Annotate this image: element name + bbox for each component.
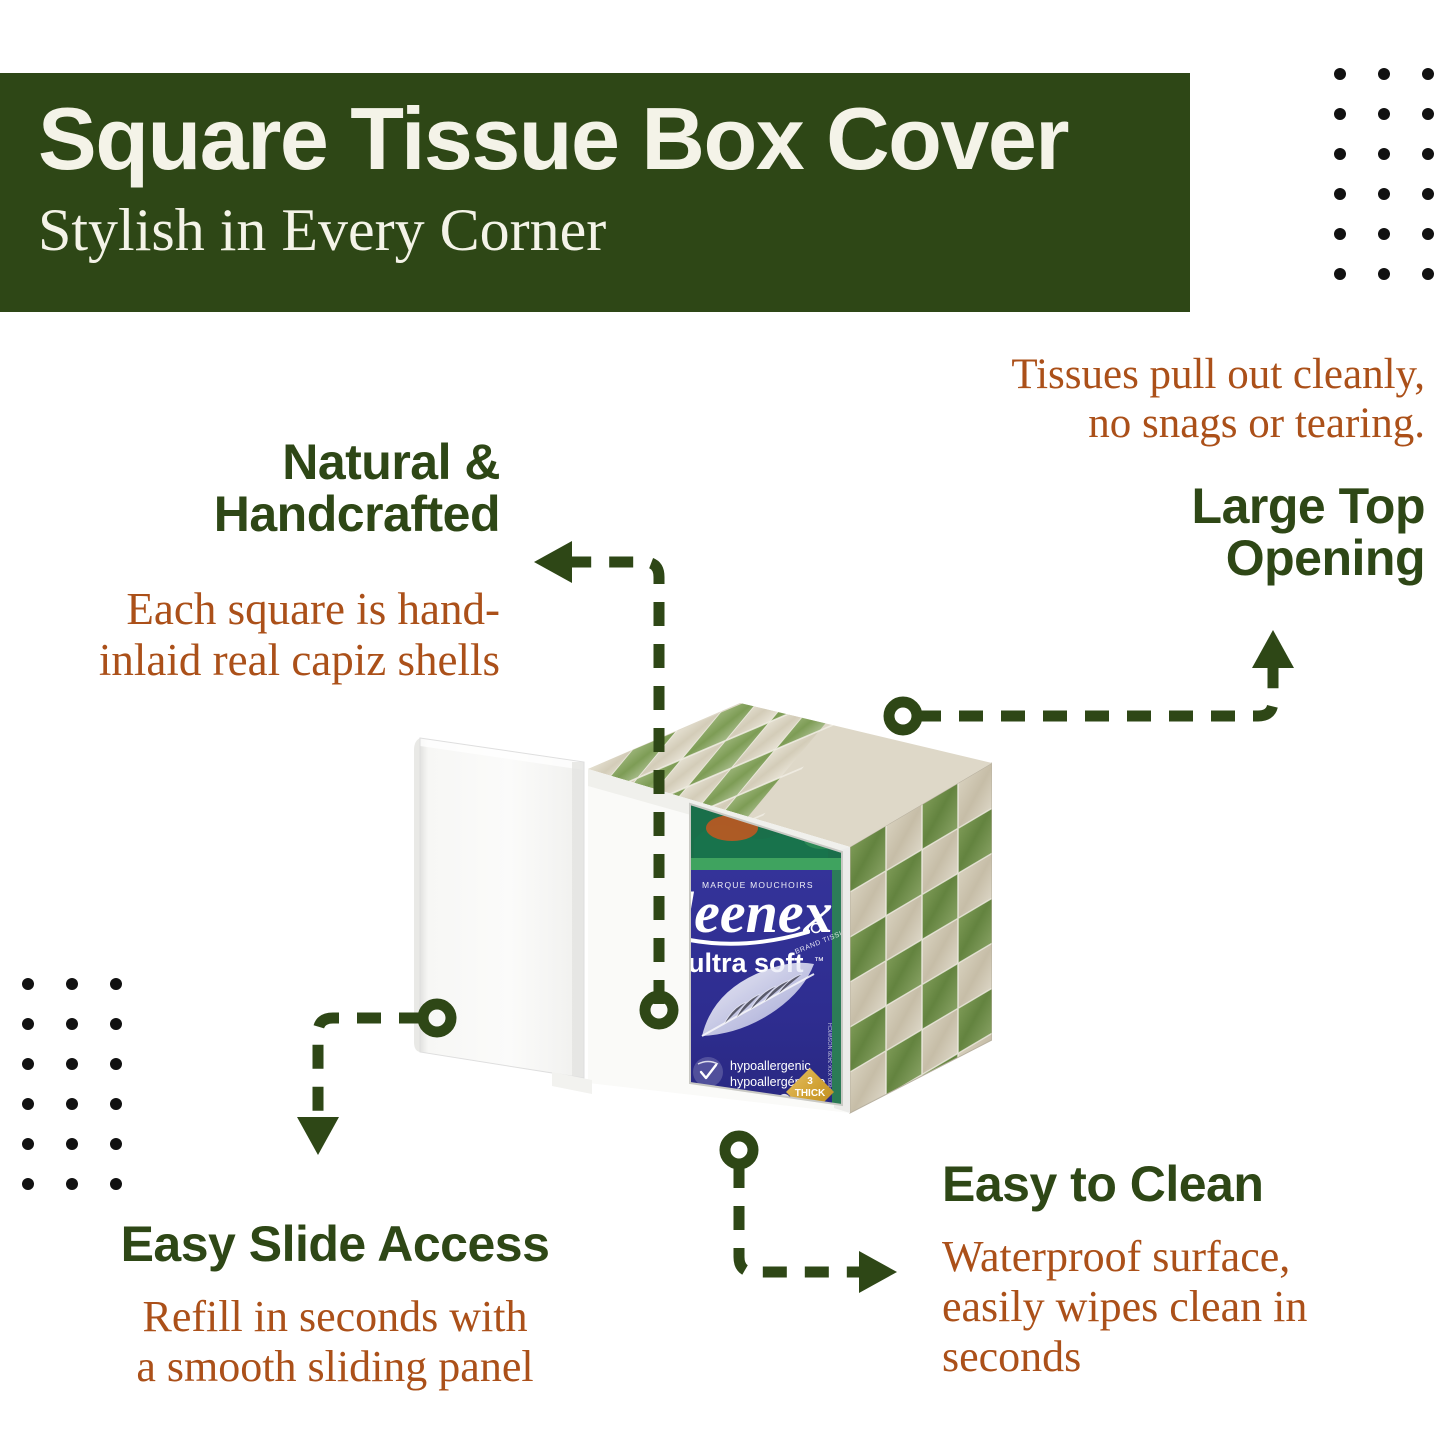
arrowhead-up-icon bbox=[1252, 630, 1294, 668]
decorative-dot bbox=[66, 1058, 78, 1070]
feature-heading-line: Handcrafted bbox=[0, 488, 500, 540]
decorative-dot bbox=[66, 1098, 78, 1110]
decorative-dot bbox=[66, 978, 78, 990]
feature-body-line: seconds bbox=[942, 1332, 1412, 1382]
feature-body-easy-slide-access: Refill in seconds with a smooth sliding … bbox=[40, 1292, 630, 1392]
decorative-dot bbox=[1422, 188, 1434, 200]
kleenex-logo: leenex BRAND TISSUE bbox=[678, 880, 851, 956]
decorative-dot bbox=[22, 1058, 34, 1070]
dot-grid-top-right bbox=[1334, 68, 1445, 308]
decorative-dot bbox=[66, 1178, 78, 1190]
feature-body-line: a smooth sliding panel bbox=[40, 1342, 630, 1392]
feature-heading-natural-handcrafted: Natural & Handcrafted bbox=[0, 436, 500, 540]
decorative-dot bbox=[1378, 108, 1390, 120]
decorative-dot bbox=[66, 1138, 78, 1150]
decorative-dot bbox=[110, 1138, 122, 1150]
arrowhead-down-icon bbox=[297, 1117, 339, 1155]
feature-heading-line: Large Top bbox=[830, 480, 1425, 532]
decorative-dot bbox=[22, 1178, 34, 1190]
decorative-dot bbox=[1334, 108, 1346, 120]
decorative-dot bbox=[110, 1098, 122, 1110]
connector-clean bbox=[725, 1136, 897, 1293]
feature-heading-line: Easy Slide Access bbox=[40, 1218, 630, 1270]
feature-body-easy-to-clean: Waterproof surface, easily wipes clean i… bbox=[942, 1232, 1412, 1382]
feature-body-large-top-opening: Tissues pull out cleanly, no snags or te… bbox=[830, 350, 1425, 448]
feature-body-line: no snags or tearing. bbox=[830, 399, 1425, 448]
tissue-box-opening: Kleenex MARQUE MOUCHOIRS leenex BRAND TI… bbox=[678, 800, 851, 1129]
decorative-dot bbox=[110, 1178, 122, 1190]
page-title: Square Tissue Box Cover bbox=[38, 95, 1068, 183]
feature-block-large-top-opening: Tissues pull out cleanly, no snags or te… bbox=[830, 350, 1425, 584]
feature-block-easy-to-clean: Easy to Clean Waterproof surface, easily… bbox=[942, 1158, 1412, 1382]
decorative-dot bbox=[22, 1098, 34, 1110]
anchor-dot-clean bbox=[725, 1136, 753, 1164]
svg-text:THICK: THICK bbox=[795, 1088, 826, 1099]
kleenex-fineprint-side: 1-800-XXX-3439 NOSWICH bbox=[828, 1023, 834, 1092]
decorative-dot bbox=[110, 1058, 122, 1070]
decorative-dot bbox=[1422, 68, 1434, 80]
decorative-dot bbox=[1378, 228, 1390, 240]
decorative-dot bbox=[1378, 148, 1390, 160]
decorative-dot bbox=[110, 978, 122, 990]
feature-body-line: Refill in seconds with bbox=[40, 1292, 630, 1342]
svg-text:™: ™ bbox=[814, 956, 824, 967]
feature-heading-easy-to-clean: Easy to Clean bbox=[942, 1158, 1412, 1210]
thick-layers-badge-fr: PLIS ÉPAIS bbox=[788, 1120, 832, 1129]
svg-text:FSC: FSC bbox=[776, 1114, 787, 1120]
decorative-dot bbox=[1334, 148, 1346, 160]
decorative-dot bbox=[22, 1018, 34, 1030]
decorative-dot bbox=[1422, 148, 1434, 160]
decorative-dot bbox=[1334, 188, 1346, 200]
feature-body-natural-handcrafted: Each square is hand- inlaid real capiz s… bbox=[0, 584, 500, 687]
feature-block-easy-slide-access: Easy Slide Access Refill in seconds with… bbox=[40, 1218, 630, 1392]
feature-body-line: Tissues pull out cleanly, bbox=[830, 350, 1425, 399]
decorative-dot bbox=[1422, 108, 1434, 120]
decorative-dot bbox=[66, 1018, 78, 1030]
decorative-dot bbox=[110, 1018, 122, 1030]
kleenex-fineprint-dims: IES–8.2 X 8.4 IN / 20.8 X 21.3 CM bbox=[686, 1109, 785, 1116]
decorative-dot bbox=[22, 978, 34, 990]
sliding-panel bbox=[414, 738, 592, 1094]
arrowhead-left-icon bbox=[534, 541, 572, 583]
decorative-dot bbox=[1378, 68, 1390, 80]
decorative-dot bbox=[1334, 68, 1346, 80]
feature-heading-line: Easy to Clean bbox=[942, 1158, 1412, 1210]
decorative-dot bbox=[1378, 188, 1390, 200]
feature-heading-easy-slide-access: Easy Slide Access bbox=[40, 1218, 630, 1270]
dot-grid-bottom-left bbox=[22, 978, 154, 1218]
decorative-dot bbox=[22, 1138, 34, 1150]
product-image: Kleenex MARQUE MOUCHOIRS leenex BRAND TI… bbox=[402, 700, 992, 1130]
feature-body-line: Waterproof surface, bbox=[942, 1232, 1412, 1282]
svg-text:3: 3 bbox=[807, 1076, 813, 1087]
feature-heading-line: Opening bbox=[830, 532, 1425, 584]
infographic-canvas: Square Tissue Box Cover Stylish in Every… bbox=[0, 0, 1445, 1445]
header-banner: Square Tissue Box Cover Stylish in Every… bbox=[0, 73, 1190, 312]
decorative-dot bbox=[1334, 268, 1346, 280]
feature-body-line: easily wipes clean in bbox=[942, 1282, 1412, 1332]
decorative-dot bbox=[1378, 268, 1390, 280]
feature-body-line: Each square is hand- bbox=[0, 584, 500, 635]
arrowhead-right-icon bbox=[859, 1251, 897, 1293]
decorative-dot bbox=[1334, 228, 1346, 240]
svg-text:leenex: leenex bbox=[678, 880, 833, 945]
hypoallergenic-badge bbox=[693, 1057, 723, 1087]
kleenex-claim-en: hypoallergenic bbox=[730, 1059, 811, 1073]
feature-heading-line: Natural & bbox=[0, 436, 500, 488]
decorative-dot bbox=[1422, 268, 1434, 280]
feature-body-line: inlaid real capiz shells bbox=[0, 635, 500, 686]
page-subtitle: Stylish in Every Corner bbox=[38, 200, 606, 260]
feature-heading-large-top-opening: Large Top Opening bbox=[830, 480, 1425, 584]
feature-block-natural-handcrafted: Natural & Handcrafted Each square is han… bbox=[0, 436, 500, 687]
decorative-dot bbox=[1422, 228, 1434, 240]
